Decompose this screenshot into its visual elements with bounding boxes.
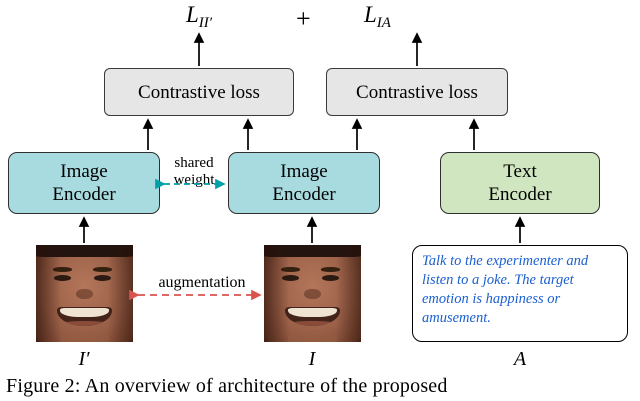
contrastive-loss-label-2: Contrastive loss [356,81,478,104]
loss-label-ia: LIA [364,2,391,31]
shared-weight-line2: weight [166,172,222,189]
figure-caption: Figure 2: An overview of architecture of… [6,374,448,398]
caption-a: A [480,348,560,371]
contrastive-loss-box-1: Contrastive loss [104,68,294,116]
caption-i-prime: I′ [44,348,124,371]
contrastive-loss-box-2: Contrastive loss [326,68,508,116]
caption-i: I [272,348,352,371]
figure-root: LII′ + LIA Contrastive loss Contrastive … [0,0,640,401]
text-encoder-box: TextEncoder [440,152,600,214]
shared-weight-annotation: shared weight [166,155,222,189]
plus-sign: + [296,6,311,32]
text-encoder-label: TextEncoder [488,160,551,206]
prompt-text-box: Talk to the experimenter and listen to a… [412,245,628,342]
face-photo-original [264,245,361,342]
prompt-text: Talk to the experimenter and listen to a… [422,253,588,326]
augmentation-annotation: augmentation [148,274,256,291]
loss-label-ii: LII′ [186,2,212,31]
contrastive-loss-label-1: Contrastive loss [138,81,260,104]
image-encoder-box-right: ImageEncoder [228,152,380,214]
image-encoder-label-right: ImageEncoder [272,160,335,206]
image-encoder-label-left: ImageEncoder [52,160,115,206]
shared-weight-line1: shared [166,155,222,172]
image-encoder-box-left: ImageEncoder [8,152,160,214]
face-photo-augmented [36,245,133,342]
